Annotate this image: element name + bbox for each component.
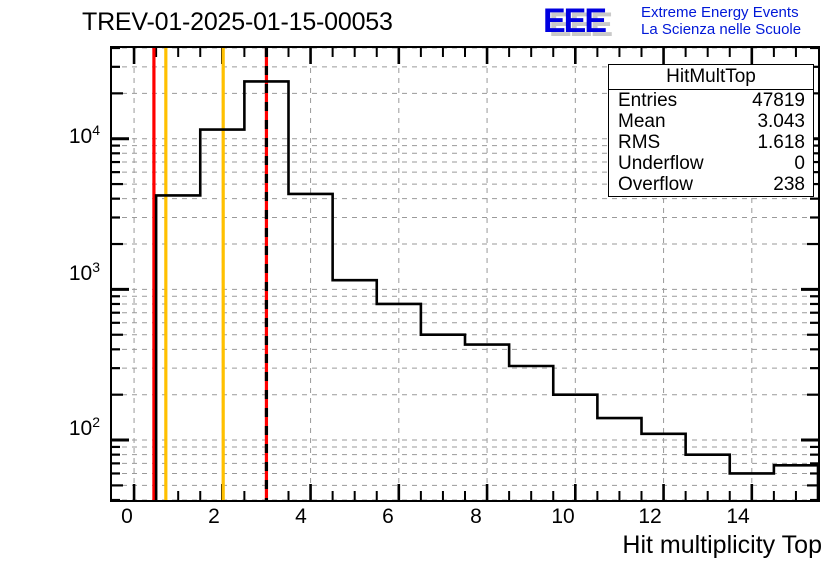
stats-label-rms: RMS (618, 132, 660, 153)
stats-row-mean: Mean 3.043 (609, 111, 813, 132)
eee-logo: EEE EEE Extreme Energy Events La Scienza… (541, 2, 833, 42)
eee-logo-mark: EEE EEE (541, 3, 637, 39)
y-tick-label-1e4: 104 (42, 122, 100, 149)
y-tick-label-1e3: 103 (42, 259, 100, 286)
stats-row-entries: Entries 47819 (609, 90, 813, 111)
stats-box: HitMultTop Entries 47819 Mean 3.043 RMS … (608, 64, 814, 197)
eee-logo-line1: Extreme Energy Events (641, 4, 801, 21)
stats-row-underflow: Underflow 0 (609, 153, 813, 174)
stats-value-mean: 3.043 (757, 111, 805, 132)
x-tick-label-2: 2 (194, 505, 234, 529)
x-tick-label-14: 14 (718, 505, 758, 529)
x-axis-title: Hit multiplicity Top (622, 531, 822, 560)
x-tick-label-8: 8 (456, 505, 496, 529)
stats-label-overflow: Overflow (618, 174, 693, 195)
stats-label-mean: Mean (618, 111, 666, 132)
stats-label-underflow: Underflow (618, 153, 704, 174)
x-tick-label-10: 10 (543, 505, 583, 529)
eee-logo-line2: La Scienza nelle Scuole (641, 21, 801, 38)
stats-value-rms: 1.618 (757, 132, 805, 153)
stats-value-underflow: 0 (794, 153, 805, 174)
eee-logo-text: Extreme Energy Events La Scienza nelle S… (641, 4, 801, 38)
stats-value-overflow: 238 (773, 174, 805, 195)
eee-logo-mark-front: EEE (543, 4, 605, 38)
stats-row-rms: RMS 1.618 (609, 132, 813, 153)
x-tick-label-0: 0 (107, 505, 147, 529)
marker-lines (154, 48, 267, 500)
x-tick-label-6: 6 (368, 505, 408, 529)
stats-title: HitMultTop (609, 65, 813, 90)
y-tick-label-1e2: 102 (42, 414, 100, 441)
x-tick-label-12: 12 (630, 505, 670, 529)
stats-row-overflow: Overflow 238 (609, 174, 813, 195)
stats-label-entries: Entries (618, 90, 677, 111)
page-title: TREV-01-2025-01-15-00053 (82, 8, 393, 37)
stats-value-entries: 47819 (752, 90, 805, 111)
x-tick-label-4: 4 (281, 505, 321, 529)
